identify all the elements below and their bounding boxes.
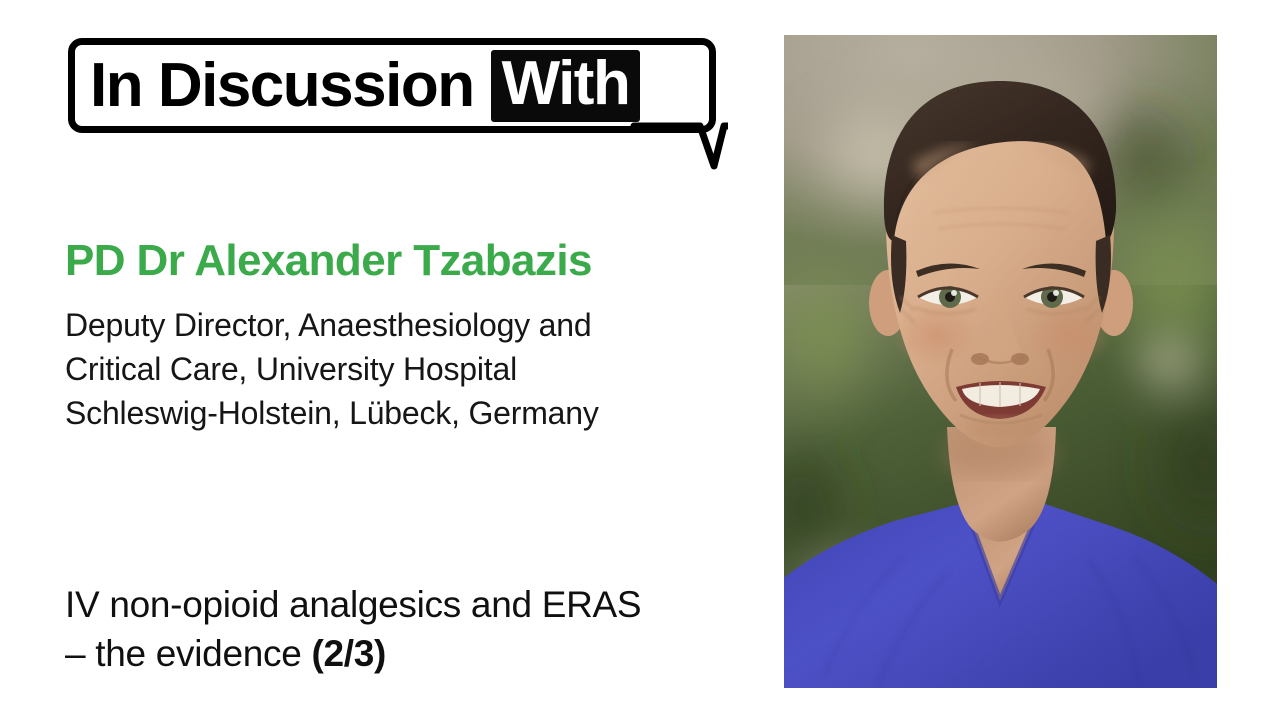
speaker-affiliation: Deputy Director, Anaesthesiology and Cri… (65, 303, 765, 435)
brand-logo-text: In Discussion With (68, 38, 716, 133)
topic-title-line-2: – the evidence (2/3) (65, 629, 825, 678)
speaker-name: PD Dr Alexander Tzabazis (65, 236, 592, 286)
affiliation-line-3: Schleswig-Holstein, Lübeck, Germany (65, 391, 765, 435)
topic-title: IV non-opioid analgesics and ERAS – the … (65, 580, 825, 678)
topic-title-line-2-text: – the evidence (65, 633, 311, 674)
slide-root: In Discussion With PD Dr Alexander Tzaba… (0, 0, 1280, 720)
speaker-portrait-photo (784, 35, 1217, 688)
brand-word-with: With (491, 50, 641, 122)
speech-bubble-tail-icon (628, 118, 728, 174)
topic-title-line-1: IV non-opioid analgesics and ERAS (65, 580, 825, 629)
brand-logo: In Discussion With (68, 38, 716, 168)
topic-part-badge: (2/3) (311, 633, 386, 674)
affiliation-line-1: Deputy Director, Anaesthesiology and (65, 303, 765, 347)
brand-word-in-discussion: In Discussion (90, 55, 474, 117)
affiliation-line-2: Critical Care, University Hospital (65, 347, 765, 391)
